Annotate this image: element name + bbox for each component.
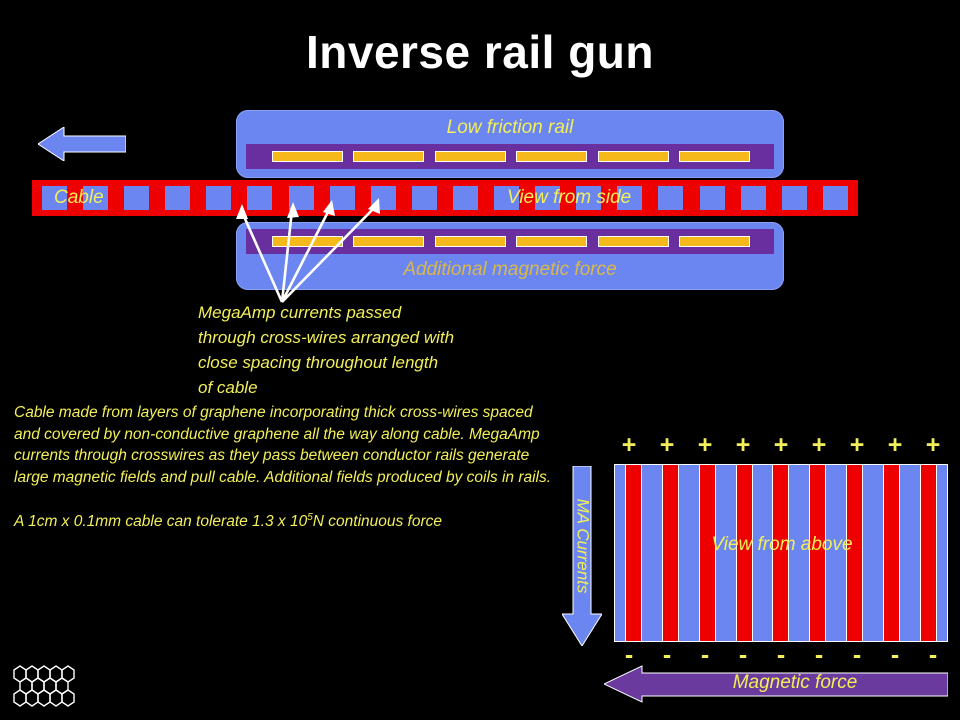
- minus-sign: -: [886, 645, 904, 665]
- top-rail-label: Low friction rail: [236, 116, 784, 140]
- callout-line: MegaAmp currents passed: [198, 300, 558, 325]
- top-rail-coil-dashes: [272, 151, 750, 162]
- plus-sign: +: [772, 432, 790, 458]
- crosswire-square: [124, 186, 149, 210]
- coil-dash: [679, 151, 750, 162]
- minus-sign: -: [848, 645, 866, 665]
- coil-dash: [598, 151, 669, 162]
- plus-sign: +: [810, 432, 828, 458]
- top-rail: Low friction rail: [236, 110, 784, 178]
- minus-sign: -: [696, 645, 714, 665]
- minus-sign: -: [810, 645, 828, 665]
- side-view-label: View from side: [507, 186, 631, 210]
- crosswire-callout-arrows: [180, 190, 440, 305]
- top-view-label: View from above: [615, 533, 949, 557]
- force-text-post: N continuous force: [313, 513, 442, 530]
- left-arrow-icon: [38, 127, 126, 161]
- description-paragraph: Cable made from layers of graphene incor…: [14, 402, 554, 488]
- crosswire-square: [658, 186, 683, 210]
- minus-sign: -: [772, 645, 790, 665]
- coil-dash: [679, 236, 750, 247]
- coil-dash: [272, 151, 343, 162]
- cable-strip: Cable View from side: [32, 180, 858, 216]
- minus-sign: -: [658, 645, 676, 665]
- graphene-honeycomb-logo: [8, 654, 92, 712]
- cable-crosswire-squares: [42, 186, 848, 210]
- positive-charge-row: + + + + + + + + +: [620, 432, 942, 458]
- coil-dash: [516, 236, 587, 247]
- plus-sign: +: [848, 432, 866, 458]
- crosswire-square: [823, 186, 848, 210]
- callout-line: of cable: [198, 375, 558, 400]
- cable-label: Cable: [54, 186, 104, 210]
- coil-dash: [598, 236, 669, 247]
- plus-sign: +: [696, 432, 714, 458]
- crosswire-square: [700, 186, 725, 210]
- crosswire-square: [453, 186, 478, 210]
- force-text-pre: A 1cm x 0.1mm cable can tolerate 1.3 x 1…: [14, 513, 307, 530]
- plus-sign: +: [734, 432, 752, 458]
- coil-dash: [435, 151, 506, 162]
- plus-sign: +: [886, 432, 904, 458]
- minus-sign: -: [620, 645, 638, 665]
- callout-line: close spacing throughout length: [198, 350, 558, 375]
- negative-charge-row: - - - - - - - - -: [620, 645, 942, 665]
- ma-currents-label: MA Currents: [562, 466, 602, 626]
- coil-dash: [516, 151, 587, 162]
- coil-dash: [435, 236, 506, 247]
- callout-line: through cross-wires arranged with: [198, 325, 558, 350]
- top-view-panel: View from above: [614, 464, 948, 642]
- slide-canvas: Inverse rail gun Low friction rail Addit…: [0, 0, 960, 720]
- description-text: Cable made from layers of graphene incor…: [14, 402, 554, 533]
- crosswire-square: [741, 186, 766, 210]
- crosswire-square: [782, 186, 807, 210]
- coil-dash: [353, 151, 424, 162]
- plus-sign: +: [658, 432, 676, 458]
- ma-currents-label-text: MA Currents: [572, 499, 592, 594]
- minus-sign: -: [924, 645, 942, 665]
- page-title: Inverse rail gun: [0, 24, 960, 80]
- plus-sign: +: [620, 432, 638, 458]
- force-paragraph: A 1cm x 0.1mm cable can tolerate 1.3 x 1…: [14, 507, 554, 533]
- magnetic-force-label: Magnetic force: [650, 671, 940, 695]
- crosswire-callout-text: MegaAmp currents passed through cross-wi…: [198, 300, 558, 400]
- minus-sign: -: [734, 645, 752, 665]
- plus-sign: +: [924, 432, 942, 458]
